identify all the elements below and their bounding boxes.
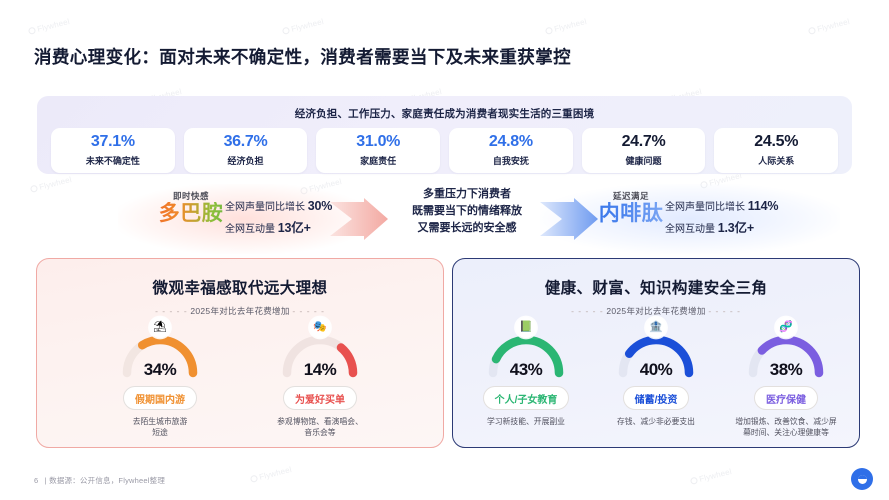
stat-card-value: 24.8% [489, 134, 533, 151]
dopamine-metric2-value: 13亿+ [278, 221, 311, 235]
stat-card-label: 未来不确定性 [86, 154, 140, 167]
endorphin-metric2-value: 1.3亿+ [718, 221, 754, 235]
center-message-line-2: 既需要当下的情绪释放 [378, 203, 556, 220]
book-icon: 📗 [516, 317, 537, 338]
gauge-label: 假期国内游 [123, 386, 197, 410]
dopamine-metric1-value: 30% [308, 199, 332, 213]
gauge-item: 🧬38%医疗保健增加锻炼、改善饮食、减少屏幕时间、关注心理健康等 [721, 327, 851, 439]
dopamine-metric2-label: 全网互动量 [225, 224, 275, 235]
gauge-percent: 34% [118, 360, 202, 380]
gauge-percent: 40% [614, 360, 698, 380]
stat-card-label: 人际关系 [758, 154, 794, 167]
footer-source: 数据源：公开信息，Flywheel整理 [49, 476, 165, 485]
stat-card: 36.7%经济负担 [184, 128, 308, 173]
micro-happiness-card: 微观幸福感取代远大理想 - - - - - 2025年对比去年花费增加 - - … [36, 258, 444, 448]
right-card-subtitle: - - - - - 2025年对比去年花费增加 - - - - - [453, 305, 859, 317]
gauge-label: 储蓄/投资 [623, 386, 690, 410]
center-message: 多重压力下消费者 既需要当下的情绪释放 又需要长远的安全感 [378, 186, 556, 237]
stat-card: 37.1%未来不确定性 [51, 128, 175, 173]
dna-icon: 🧬 [776, 317, 797, 338]
watermark: Flywheel [545, 17, 588, 36]
stat-card-value: 31.0% [356, 134, 400, 151]
left-card-heading: 微观幸福感取代远大理想 [37, 276, 443, 298]
left-card-subtitle: - - - - - 2025年对比去年花费增加 - - - - - [37, 305, 443, 317]
endorphin-metric2-label: 全网互动量 [665, 224, 715, 235]
watermark: Flywheel [282, 17, 325, 36]
dopamine-metrics: 全网声量同比增长 30% 全网互动量 13亿+ [225, 196, 332, 240]
footer: 6 | 数据源：公开信息，Flywheel整理 [34, 475, 165, 486]
umbrella-icon: ⛱ [150, 317, 171, 338]
gauge-description: 存钱、减少非必要支出 [591, 416, 721, 427]
endorphin-metric1-label: 全网声量同比增长 [665, 202, 745, 213]
watermark: Flywheel [690, 467, 733, 486]
ticket-icon: 🎭 [310, 317, 331, 338]
page-title: 消费心理变化：面对未来不确定性，消费者需要当下及未来重获掌控 [34, 44, 571, 69]
stat-card: 24.7%健康问题 [582, 128, 706, 173]
watermark: Flywheel [28, 17, 71, 36]
stat-card-label: 家庭责任 [360, 154, 396, 167]
gauge-percent: 43% [484, 360, 568, 380]
gauge-percent: 38% [744, 360, 828, 380]
gauge-label: 医疗保健 [754, 386, 818, 410]
gauge-dial: 🎭14% [278, 327, 362, 379]
stat-card: 24.5%人际关系 [714, 128, 838, 173]
gauge-description: 增加锻炼、改善饮食、减少屏幕时间、关注心理健康等 [721, 416, 851, 439]
page-number: 6 [34, 476, 38, 485]
gauge-item: 🎭14%为爱好买单参观博物馆、看演唱会、音乐会等 [240, 327, 400, 439]
band-heading: 经济负担、工作压力、家庭责任成为消费者现实生活的三重困境 [37, 96, 852, 121]
stat-card: 24.8%自我安抚 [449, 128, 573, 173]
gauge-description: 学习新技能、开展副业 [461, 416, 591, 427]
slide-root: Flywheel Flywheel Flywheel Flywheel Flyw… [0, 0, 889, 500]
bank-icon: 🏦 [646, 317, 667, 338]
gauge-item: 📗43%个人/子女教育学习新技能、开展副业 [461, 327, 591, 439]
stat-card: 31.0%家庭责任 [316, 128, 440, 173]
security-triangle-card: 健康、财富、知识构建安全三角 - - - - - 2025年对比去年花费增加 -… [452, 258, 860, 448]
watermark: Flywheel [808, 17, 851, 36]
neurochemical-flow: 即时快感 多巴胺 全网声量同比增长 30% 全网互动量 13亿+ 多重压力下消费… [0, 186, 889, 254]
left-gauge-list: ⛱34%假期国内游去陌生城市旅游短途🎭14%为爱好买单参观博物馆、看演唱会、音乐… [37, 327, 443, 439]
stat-card-label: 经济负担 [228, 154, 264, 167]
gauge-dial: 🧬38% [744, 327, 828, 379]
pain-points-band: 经济负担、工作压力、家庭责任成为消费者现实生活的三重困境 37.1%未来不确定性… [37, 96, 852, 174]
gauge-item: ⛱34%假期国内游去陌生城市旅游短途 [80, 327, 240, 439]
gauge-description: 参观博物馆、看演唱会、音乐会等 [240, 416, 400, 439]
footer-separator: | [45, 476, 47, 485]
gauge-description: 去陌生城市旅游短途 [80, 416, 240, 439]
gauge-dial: ⛱34% [118, 327, 202, 379]
stat-card-value: 36.7% [224, 134, 268, 151]
watermark: Flywheel [250, 465, 293, 484]
stat-card-label: 自我安抚 [493, 154, 529, 167]
dopamine-metric1-label: 全网声量同比增长 [225, 202, 305, 213]
gauge-dial: 🏦40% [614, 327, 698, 379]
gauge-percent: 14% [278, 360, 362, 380]
stat-card-value: 37.1% [91, 134, 135, 151]
gauge-label: 个人/子女教育 [483, 386, 570, 410]
stat-card-value: 24.7% [622, 134, 666, 151]
gauge-item: 🏦40%储蓄/投资存钱、减少非必要支出 [591, 327, 721, 439]
center-message-line-1: 多重压力下消费者 [378, 186, 556, 203]
stat-card-label: 健康问题 [626, 154, 662, 167]
right-card-heading: 健康、财富、知识构建安全三角 [453, 276, 859, 298]
center-message-line-3: 又需要长远的安全感 [378, 220, 556, 237]
gauge-label: 为爱好买单 [283, 386, 357, 410]
brand-logo-icon [851, 468, 873, 490]
right-gauge-list: 📗43%个人/子女教育学习新技能、开展副业🏦40%储蓄/投资存钱、减少非必要支出… [453, 327, 859, 439]
endorphin-metrics: 全网声量同比增长 114% 全网互动量 1.3亿+ [665, 196, 778, 240]
endorphin-metric1-value: 114% [748, 199, 778, 213]
stat-card-value: 24.5% [754, 134, 798, 151]
stat-card-list: 37.1%未来不确定性36.7%经济负担31.0%家庭责任24.8%自我安抚24… [37, 121, 852, 173]
gauge-dial: 📗43% [484, 327, 568, 379]
